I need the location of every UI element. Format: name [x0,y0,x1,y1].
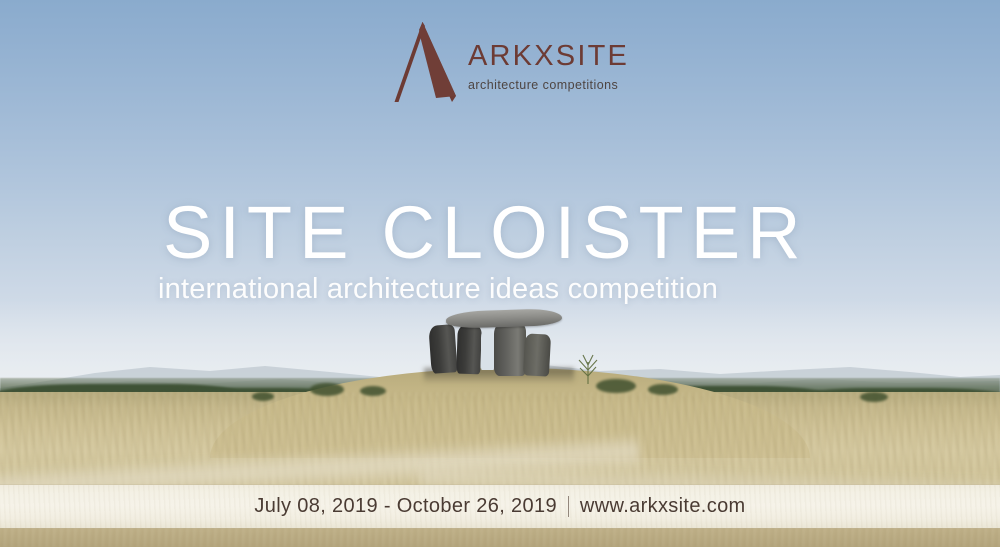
dolmen-upright-stone [523,333,551,376]
ridge-shrub [252,392,274,401]
competition-date-range: July 08, 2019 - October 26, 2019 [254,495,557,518]
footer-content: July 08, 2019 - October 26, 2019 www.ark… [254,495,745,518]
title-word-cloister: CLOISTER [355,191,807,274]
dolmen-capstone [446,308,562,329]
ridge-shrub [860,392,888,402]
dolmen-upright-stone [456,326,482,375]
poster-canvas: ARKXSITE architecture competitions SITEC… [0,0,1000,547]
brand-tagline: architecture competitions [468,78,629,92]
dolmen-upright-stone [428,324,457,374]
footer-bar: July 08, 2019 - October 26, 2019 www.ark… [0,485,1000,528]
website-link[interactable]: www.arkxsite.com [580,495,746,518]
ridge-shrub [360,386,386,396]
page-subtitle: international architecture ideas competi… [158,275,718,304]
arkxsite-a-triangle-mark [392,20,460,106]
ridge-shrub [310,383,344,396]
brand-name: ARKXSITE [468,42,629,71]
dolmen-megalith [424,310,584,382]
footer-separator [568,496,569,517]
dolmen-sky-gap [481,330,494,370]
title-word-site: SITE [163,191,355,274]
page-title: SITECLOISTER [163,196,808,270]
dolmen-upright-stone [494,322,526,376]
ridge-shrub [648,384,678,395]
ridge-shrub [596,379,636,393]
brand-wordmark: ARKXSITE architecture competitions [468,42,629,92]
small-bush [575,352,601,384]
brand-logo[interactable]: ARKXSITE architecture competitions [392,20,632,108]
